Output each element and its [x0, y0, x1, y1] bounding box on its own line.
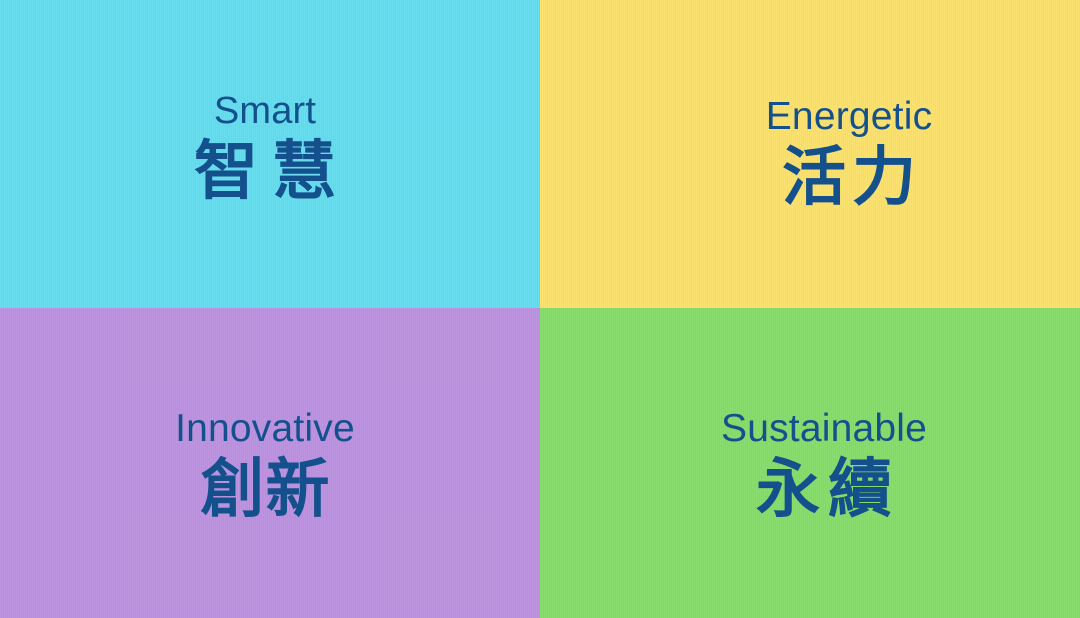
value-label-en-sustainable: Sustainable: [721, 409, 927, 448]
value-label-en-energetic: Energetic: [766, 97, 933, 136]
value-cell-smart[interactable]: Smart 智慧: [0, 0, 540, 308]
value-label-zh-innovative: 創新: [199, 458, 330, 522]
value-cell-sustainable[interactable]: Sustainable 永續: [540, 308, 1080, 618]
value-label-zh-sustainable: 永續: [748, 458, 900, 522]
value-label-zh-smart: 智慧: [180, 140, 350, 204]
value-label-zh-energetic: 活力: [776, 146, 922, 210]
value-text-block-innovative: Innovative 創新: [175, 409, 355, 522]
value-grid: Smart 智慧 Energetic 活力 Innovative 創新 Sust…: [0, 0, 1080, 618]
value-text-block-energetic: Energetic 活力: [766, 97, 933, 210]
value-cell-energetic[interactable]: Energetic 活力: [540, 0, 1080, 308]
value-text-block-smart: Smart 智慧: [180, 92, 350, 204]
value-cell-innovative[interactable]: Innovative 創新: [0, 308, 540, 618]
value-label-en-smart: Smart: [214, 92, 316, 130]
value-label-en-innovative: Innovative: [175, 409, 355, 448]
value-text-block-sustainable: Sustainable 永續: [721, 409, 927, 522]
